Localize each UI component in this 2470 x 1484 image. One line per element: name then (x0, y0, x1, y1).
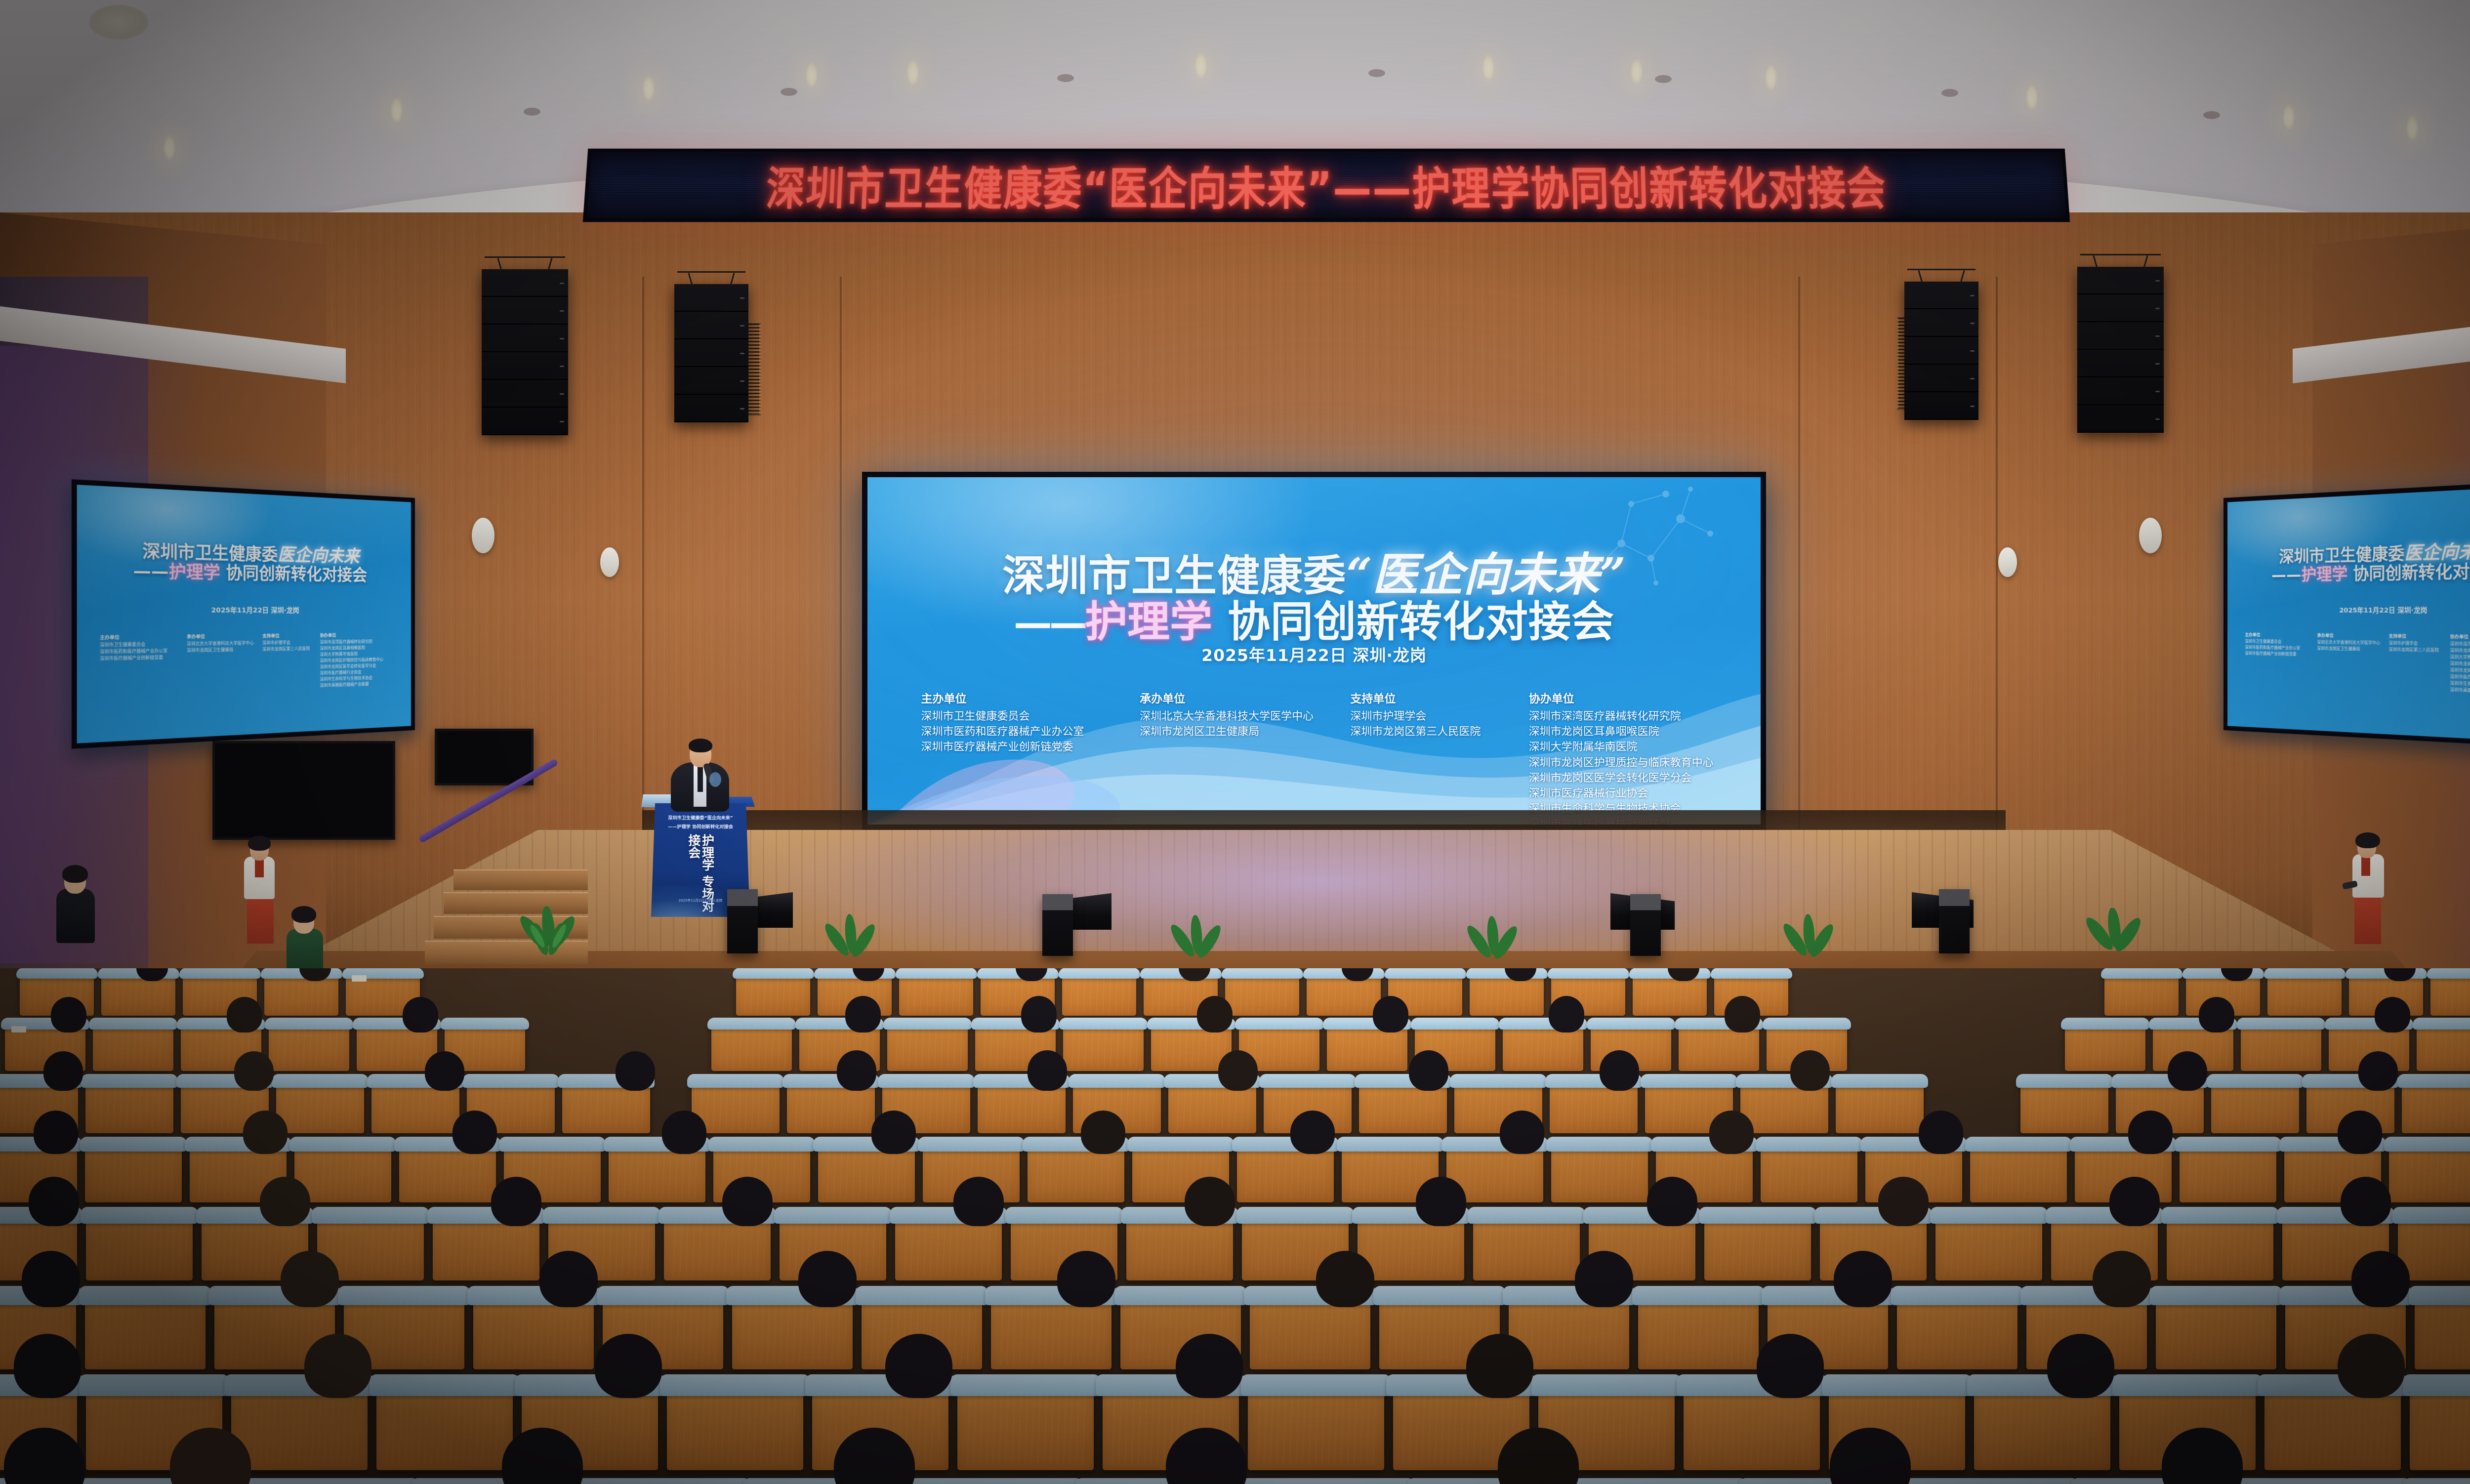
auditorium-scene: 深圳市卫生健康委“医企向未来”——护理学协同创新转化对接会 (0, 0, 2470, 1484)
audience-seat (2267, 973, 2342, 1016)
ceiling-corner-fixture-left (89, 5, 148, 40)
audience-member (1915, 1111, 1967, 1159)
side-left-org-item: 深圳北京大学香港科技大学医学中心 (187, 640, 256, 648)
audience-member (2105, 1177, 2164, 1231)
audience-seat (2180, 1144, 2276, 1202)
speaker-rigging (677, 271, 745, 284)
side-left-org-item: 深圳市龙岗区卫生健康局 (187, 646, 256, 654)
audience-hair (845, 996, 881, 1032)
main-stage-led-screen: 深圳市卫生健康委“医企向未来” ——护理学 协同创新转化对接会 2025年11月… (862, 472, 1766, 830)
audience-member (2089, 1251, 2155, 1312)
audience-hair (853, 968, 884, 981)
audience-member (867, 1111, 920, 1159)
audience-member (2334, 1111, 2386, 1159)
audience-member (1369, 996, 1412, 1036)
audience-member (1705, 1111, 1758, 1159)
audience-hair (2338, 1334, 2405, 1398)
audience-member (1175, 968, 1214, 985)
audience-member (25, 1177, 83, 1231)
side-left-organizers: 主办单位 深圳市卫生健康委员会 深圳市医药和医疗器械产业办公室 深圳市医疗器械产… (100, 632, 399, 696)
side-right-organizers: 主办单位 深圳市卫生健康委员会 深圳市医药和医疗器械产业办公室 深圳市医疗器械产… (2245, 632, 2470, 697)
audience-seat (1551, 1144, 1648, 1202)
audience-hair (1176, 1334, 1243, 1398)
audience-member (1338, 968, 1377, 985)
audience-hair (2341, 1177, 2391, 1226)
side-right-title: 深圳市卫生健康委医企向未来 ——护理学 协同创新转化对接会 (2227, 539, 2470, 585)
audience-hair (1342, 968, 1373, 981)
led-banner-text: 深圳市卫生健康委“医企向未来”——护理学协同创新转化对接会 (765, 153, 1888, 218)
audience-member (2164, 1051, 2211, 1095)
audience-member (0, 1428, 89, 1484)
audience-member (849, 968, 888, 985)
audience-seat (1836, 1081, 1924, 1133)
side-attendee-left2-hair (291, 906, 316, 923)
audience-hair (1834, 1251, 1892, 1307)
line-array-speaker-right (2077, 267, 2164, 433)
audience-seat (1704, 1215, 1811, 1280)
side-left-org-item: 深圳市龙岗区第三人民医院 (262, 646, 314, 653)
side-right-org-item: 深圳市龙岗区卫生健康局 (2317, 646, 2383, 653)
side-right-org-head-2: 承办单位 (2317, 633, 2383, 640)
audience-member (1721, 996, 1764, 1036)
side-right-org-col-1: 主办单位 深圳市卫生健康委员会 深圳市医药和医疗器械产业办公室 深圳市医疗器械产… (2245, 632, 2311, 689)
side-left-org-col-3: 支持单位 深圳市护理学会 深圳市龙岗区第三人民医院 (262, 633, 314, 691)
audience-hair (234, 1051, 274, 1091)
audience-member (1024, 1050, 1071, 1095)
audience-hair (1790, 1050, 1830, 1091)
audience-seat (887, 1024, 968, 1071)
ceiling-downlight (906, 59, 919, 86)
audience-hair (1505, 968, 1536, 981)
organizer-item: 深圳市龙岗区第三人民医院 (1350, 724, 1511, 740)
audience-hair (299, 968, 331, 981)
audience-seat (85, 1144, 182, 1202)
presenter-badge (709, 772, 721, 787)
audience-seat (85, 1295, 206, 1369)
audience-seat (269, 1024, 349, 1071)
audience-hair (2109, 1177, 2160, 1226)
audience-hair (1725, 996, 1760, 1032)
audience-member (1830, 1251, 1896, 1312)
audience-hair (1549, 996, 1584, 1032)
audience-member (949, 1177, 1008, 1231)
ceiling-downlight (2282, 104, 2295, 130)
audience-hair (798, 1251, 857, 1307)
audience-hair (1919, 1111, 1963, 1154)
audience-member (498, 1428, 587, 1484)
ceiling-vent (1655, 75, 1672, 83)
audience-hair (136, 968, 168, 981)
audience-member (535, 1251, 602, 1312)
audience-hair (885, 1334, 952, 1398)
audience-seat (2389, 1144, 2470, 1202)
usher-right (2342, 832, 2396, 976)
audience-hair (1057, 1251, 1115, 1307)
audience-hair (227, 997, 262, 1032)
ceiling-downlight (805, 62, 818, 88)
side-attendee-left-torso (56, 889, 95, 943)
audience-member (1496, 1111, 1548, 1159)
audience-member (658, 1111, 710, 1159)
audience-member (1664, 968, 1703, 985)
side-display-left: 深圳市卫生健康委医企向未来 ——护理学 协同创新转化对接会 2025年11月22… (72, 479, 415, 749)
audience-seat (2415, 1295, 2470, 1369)
audience-hair (2128, 1111, 2173, 1154)
audience-hair (2093, 1251, 2151, 1307)
side-attendee-left-hair (62, 865, 88, 883)
audience-hair (281, 1251, 339, 1307)
side-display-right: 深圳市卫生健康委医企向未来 ——护理学 协同创新转化对接会 2025年11月22… (2223, 479, 2470, 749)
audience-hair (2199, 997, 2234, 1032)
side-right-org-item: 深圳市高端医疗器械产业联盟 (2450, 687, 2470, 697)
audience-hair (837, 1050, 876, 1091)
audience-member (1412, 1177, 1470, 1231)
usher-left-hair (248, 836, 271, 851)
ceiling-vent (2203, 111, 2220, 119)
audience-hair (834, 1428, 915, 1484)
audience-seat (2156, 1295, 2276, 1369)
side-display-left-surface: 深圳市卫生健康委医企向未来 ——护理学 协同创新转化对接会 2025年11月22… (77, 485, 411, 743)
main-screen-surface: 深圳市卫生健康委“医企向未来” ——护理学 协同创新转化对接会 2025年11月… (867, 477, 1761, 824)
audience-member (1405, 1050, 1452, 1095)
audience-seat (711, 1024, 792, 1071)
audience-member (591, 1334, 666, 1404)
audience-hair (1830, 1428, 1911, 1484)
audience-hair (1409, 1050, 1448, 1091)
audience-member (421, 1051, 468, 1095)
organizer-column-support: 支持单位 深圳市护理学会 深圳市龙岗区第三人民医院 (1350, 689, 1511, 824)
ceiling-downlight (642, 75, 655, 102)
audience-hair (51, 997, 86, 1032)
usher-left (232, 835, 287, 978)
organizer-item: 深圳市医疗器械产业创新链党委 (921, 740, 1122, 755)
audience-seat (1638, 1295, 1759, 1369)
screen-organizer-block: 主办单位 深圳市卫生健康委员会 深圳市医药和医疗器械产业办公室 深圳市医疗器械产… (921, 689, 1725, 824)
audience-seat (667, 1385, 803, 1470)
organizer-column-organizer: 承办单位 深圳北京大学香港科技大学医学中心 深圳市龙岗区卫生健康局 (1140, 689, 1333, 824)
audience-member (2124, 1111, 2177, 1159)
podium-header-line1: 深圳市卫生健康委“医企向未来” (655, 814, 746, 821)
audience-hair (304, 1334, 371, 1398)
audience-member (1494, 1428, 1583, 1484)
tower-speaker (1042, 894, 1073, 956)
seat-number-label (11, 1026, 26, 1032)
audience-hair (22, 1251, 80, 1307)
audience-seat (2430, 973, 2470, 1016)
audience-member (256, 1177, 314, 1231)
side-left-dash: —— (133, 561, 168, 582)
usher-left-skirt (247, 894, 274, 944)
stage-plant (1462, 915, 1522, 969)
audience-hair (425, 1051, 464, 1091)
side-right-org-item: 深圳市医疗器械产业创新链党委 (2245, 651, 2311, 658)
seat-number-label (352, 975, 367, 982)
wall-monitor-right (435, 729, 534, 785)
presenter-tie (698, 766, 703, 792)
surround-speaker-far-right (1998, 547, 2017, 577)
stage-plant (2085, 908, 2144, 962)
side-right-org-col-4: 协办单位 深圳市深湾医疗器械转化研究院 深圳市龙岗区耳鼻咽喉医院 深圳大学附属华… (2450, 634, 2470, 697)
organizer-item: 深圳市龙岗区医学会转化医学分会 (1529, 771, 1761, 786)
audience-seat (376, 1385, 513, 1470)
audience-member (1571, 1251, 1637, 1312)
audience-seat (1970, 1144, 2067, 1202)
audience-hair (953, 1177, 1004, 1226)
audience-hair (453, 1111, 497, 1154)
audience-hair (502, 1428, 583, 1484)
presenter-hair (689, 739, 712, 752)
stage-plant (820, 913, 879, 967)
ceiling-downlight (2025, 84, 2038, 111)
audience-member (1053, 1251, 1119, 1312)
audience-seat (1897, 1295, 2017, 1369)
audience-seat (1063, 1024, 1144, 1071)
audience-hair (1647, 1177, 1697, 1226)
audience-hair (1575, 1251, 1633, 1307)
audience-hair (1498, 1428, 1579, 1484)
audience-member (830, 1428, 919, 1484)
audience-member (2043, 1334, 2118, 1404)
screen-title-quote-close: ” (1600, 548, 1626, 601)
audience-member (40, 1051, 87, 1095)
audience-hair (595, 1334, 662, 1398)
organizer-item: 深圳市龙岗区卫生健康局 (1140, 724, 1333, 740)
side-right-org-head-3: 支持单位 (2388, 633, 2443, 641)
surround-speaker-far-left (600, 547, 619, 577)
side-right-org-item: 深圳市龙岗区第三人民医院 (2388, 647, 2443, 654)
audience-hair (1185, 1177, 1235, 1226)
organizer-item: 深圳市龙岗区耳鼻咽喉医院 (1529, 724, 1761, 740)
audience-hair (616, 1051, 655, 1091)
audience-hair (1709, 1111, 1754, 1154)
audience-seat (2417, 1024, 2470, 1071)
audience-hair (1668, 968, 1699, 981)
audience-hair (4, 1428, 85, 1484)
side-left-date: 2025年11月22日 深圳·龙岗 (77, 604, 411, 615)
audience-member (2354, 1051, 2402, 1095)
audience-member (1786, 1050, 1834, 1095)
audience-hair (1218, 1050, 1258, 1091)
organizer-item: 深圳市医药和医疗器械产业办公室 (921, 724, 1122, 740)
screen-title-block: 深圳市卫生健康委“医企向未来” ——护理学 协同创新转化对接会 (867, 550, 1761, 645)
audience-member (1874, 1177, 1933, 1231)
audience-member (1501, 968, 1540, 985)
audience-member (399, 997, 442, 1036)
side-left-org-col-1: 主办单位 深圳市卫生健康委员会 深圳市医药和医疗器械产业办公室 深圳市医疗器械产… (100, 634, 180, 696)
ceiling-downlight (1765, 64, 1777, 91)
audience-hair (2351, 1251, 2410, 1307)
ceiling-downlight (390, 97, 403, 124)
organizer-item: 深圳大学附属华南医院 (1529, 740, 1761, 755)
side-left-title-part2: 协同创新转化对接会 (220, 563, 367, 585)
organizer-item: 深圳市护理学会 (1350, 709, 1511, 724)
organizer-item: 深圳北京大学香港科技大学医学中心 (1140, 709, 1333, 724)
ceiling-vent (1057, 74, 1074, 82)
audience-hair (2168, 1051, 2207, 1091)
audience-member (277, 1251, 343, 1312)
audience-hair (1416, 1177, 1466, 1226)
audience-seat (2065, 1024, 2145, 1071)
audience-hair (1179, 968, 1210, 981)
audience-hair (871, 1111, 916, 1154)
audience-hair (491, 1177, 541, 1226)
audience-seat (86, 1215, 193, 1280)
side-right-date: 2025年11月22日 深圳·龙岗 (2227, 604, 2470, 615)
audience-hair (539, 1251, 598, 1307)
tower-speaker (1939, 889, 1970, 953)
side-left-highlight: 护理学 (168, 561, 220, 583)
audience-hair (2162, 1428, 2243, 1484)
led-headline-banner: 深圳市卫生健康委“医企向未来”——护理学协同创新转化对接会 (583, 149, 2070, 222)
audience-member (300, 1334, 375, 1404)
ceiling-vent (781, 88, 797, 96)
audience-member (487, 1177, 545, 1231)
audience-member (1312, 1251, 1378, 1312)
audience-hair (14, 1334, 81, 1398)
audience-member (1596, 1050, 1643, 1095)
audience-member (1826, 1428, 1915, 1484)
audience-hair (34, 1111, 78, 1154)
audience-member (132, 968, 172, 985)
audience-hair (662, 1111, 706, 1154)
audience-seat (85, 1081, 173, 1133)
audience-member (1643, 1177, 1701, 1231)
audience-hair (1021, 996, 1057, 1032)
ceiling-downlight (1630, 58, 1643, 85)
side-left-title: 深圳市卫生健康委医企向未来 ——护理学 协同创新转化对接会 (77, 539, 411, 585)
audience-member (239, 1111, 291, 1159)
tower-speaker (1630, 894, 1661, 956)
audience-seat (1935, 1215, 2042, 1280)
audience-hair (2047, 1334, 2114, 1398)
audience-member (1012, 968, 1051, 985)
side-right-org-col-3: 支持单位 深圳市护理学会 深圳市龙岗区第三人民医院 (2388, 633, 2443, 693)
speaker-rigging (1907, 269, 1976, 282)
audience-seat (736, 973, 810, 1016)
ceiling-vent (1368, 69, 1385, 77)
speaker-rigging (485, 256, 565, 269)
usher-right-hair (2355, 832, 2380, 848)
side-left-org-col-4: 协办单位 深圳市深湾医疗器械转化研究院 深圳市龙岗区耳鼻咽喉医院 深圳大学附属华… (320, 632, 400, 689)
audience-hair (1316, 1251, 1374, 1307)
screen-title-cursive: 医企向未来 (1372, 548, 1600, 601)
audience-hair (1500, 1111, 1544, 1154)
audience-hair (1016, 968, 1047, 981)
surround-speaker-right (2139, 518, 2162, 553)
audience-member (1286, 1111, 1339, 1159)
audience-seat (2211, 1081, 2299, 1133)
speaker-rigging (2080, 254, 2161, 267)
screen-title-quote-open: “ (1346, 548, 1372, 601)
audience-member (1172, 1334, 1247, 1404)
audience-hair (1081, 1111, 1125, 1154)
ceiling-downlight (163, 134, 176, 161)
organizer-item: 深圳市深湾医疗器械转化研究院 (1529, 709, 1761, 724)
audience-hair (243, 1111, 288, 1154)
audience-hair (2384, 968, 2416, 981)
organizer-heading: 承办单位 (1140, 689, 1333, 706)
side-right-title-part2: 协同创新转化对接会 (2347, 561, 2470, 584)
line-array-speaker-center-right (1904, 282, 1978, 420)
audience-seat (2104, 973, 2179, 1016)
side-display-right-surface: 深圳市卫生健康委医企向未来 ——护理学 协同创新转化对接会 2025年11月22… (2227, 485, 2470, 743)
audience-member (1181, 1177, 1239, 1231)
audience-hair (1757, 1334, 1824, 1398)
audience-seat (93, 1024, 173, 1071)
audience-hair (1373, 996, 1408, 1032)
usher-right-skirt (2354, 893, 2381, 944)
side-left-org-head-3: 支持单位 (262, 633, 314, 640)
audience-seat (2167, 1215, 2273, 1280)
side-left-org-col-2: 承办单位 深圳北京大学香港科技大学医学中心 深圳市龙岗区卫生健康局 (187, 633, 256, 694)
audience-member (18, 1251, 84, 1312)
organizer-column-coorganizer: 协办单位 深圳市深湾医疗器械转化研究院 深圳市龙岗区耳鼻咽喉医院 深圳大学附属华… (1529, 689, 1761, 824)
ceiling-downlight (2406, 115, 2419, 141)
audience-member (1162, 1428, 1251, 1484)
audience-area (0, 968, 2470, 1484)
side-right-org-col-2: 承办单位 深圳北京大学香港科技大学医学中心 深圳市龙岗区卫生健康局 (2317, 633, 2383, 691)
wall-monitor-left (212, 741, 395, 840)
audience-hair (1466, 1334, 1533, 1398)
side-right-dash: —— (2271, 565, 2301, 585)
audience-hair (2338, 1111, 2382, 1154)
audience-member (881, 1334, 956, 1404)
side-left-org-item: 深圳市医疗器械产业创新链党委 (100, 654, 180, 662)
audience-hair (1197, 996, 1233, 1032)
audience-member (794, 1251, 861, 1312)
audience-hair (260, 1177, 310, 1226)
stage-plant (519, 907, 578, 961)
audience-member (2337, 1177, 2395, 1231)
audience-hair (1166, 1428, 1247, 1484)
audience-member (833, 1050, 880, 1095)
audience-member (1077, 1111, 1129, 1159)
audience-member (1214, 1050, 1262, 1095)
audience-member (47, 997, 90, 1036)
audience-seat (1473, 1215, 1580, 1280)
ceiling-downlight (1482, 54, 1495, 81)
audience-member (2334, 1334, 2409, 1404)
audience-member (718, 1177, 777, 1231)
audience-hair (1028, 1050, 1067, 1091)
screen-title-part1: 深圳市卫生健康委 (1002, 551, 1346, 601)
stage-plant (1778, 913, 1838, 967)
audience-member (2371, 997, 2414, 1036)
audience-member (841, 996, 885, 1036)
organizer-item: 深圳市卫生健康委员会 (921, 709, 1122, 724)
tower-speaker (727, 889, 758, 953)
audience-seat (899, 973, 973, 1016)
audience-hair (2358, 1051, 2398, 1091)
line-array-speaker-center-left (674, 284, 748, 422)
audience-member (230, 1051, 278, 1095)
audience-member (1753, 1334, 1828, 1404)
organizer-heading: 协办单位 (1529, 689, 1761, 706)
audience-hair (29, 1177, 79, 1226)
audience-seat (957, 1385, 1094, 1470)
side-right-highlight: 护理学 (2301, 564, 2347, 584)
audience-hair (2375, 997, 2410, 1032)
audience-hair (2221, 968, 2253, 981)
audience-hair (1600, 1050, 1639, 1091)
audience-member (449, 1111, 501, 1159)
organizer-column-host: 主办单位 深圳市卫生健康委员会 深圳市医药和医疗器械产业办公室 深圳市医疗器械产… (921, 689, 1122, 824)
audience-member (2380, 968, 2420, 985)
audience-seat (2410, 1385, 2470, 1470)
audience-member (30, 1111, 82, 1159)
audience-member (2347, 1251, 2414, 1312)
presenter-at-podium (668, 735, 732, 809)
